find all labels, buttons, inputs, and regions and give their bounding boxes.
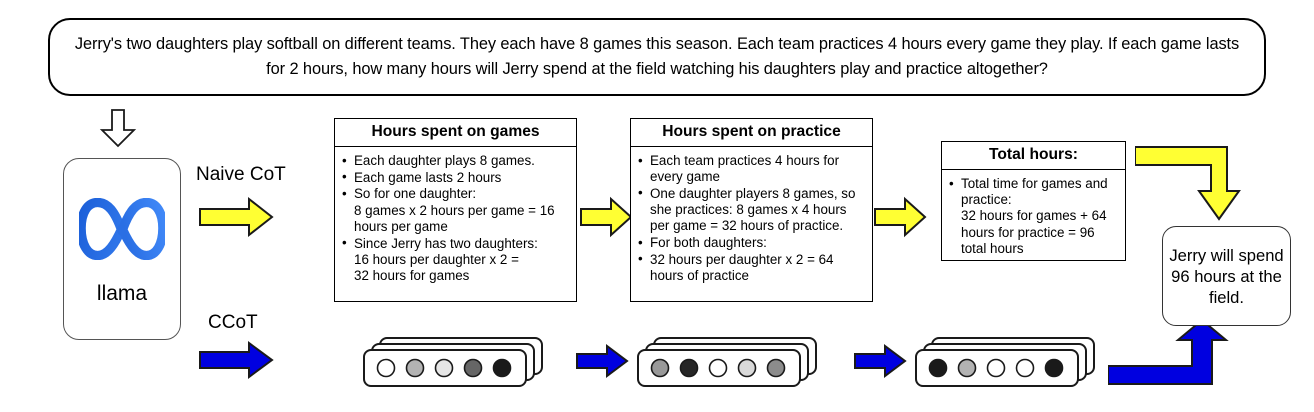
question-text: Jerry's two daughters play softball on d… [68, 32, 1246, 82]
naive-cot-label: Naive CoT [196, 164, 286, 186]
ccot-card-stack-1 [358, 334, 558, 401]
token-dot [407, 360, 424, 377]
cot-box-games: Hours spent on games Each daughter plays… [334, 118, 577, 302]
llama-label: llama [97, 282, 147, 306]
cot-box-games-body: Each daughter plays 8 games. Each game l… [335, 147, 576, 291]
cot-box-total: Total hours: Total time for games and pr… [941, 141, 1126, 261]
ccot-card-stack-3 [910, 334, 1110, 401]
cot-box-total-body: Total time for games and practice: 32 ho… [942, 170, 1125, 264]
ccot-arrow-icon-2 [574, 344, 630, 378]
meta-infinity-logo [79, 198, 165, 260]
token-dot [988, 360, 1005, 377]
list-item: Each team practices 4 hours for every ga… [637, 153, 865, 185]
token-card-stack-icon [358, 334, 558, 396]
naive-cot-elbow-arrow-icon [1135, 145, 1255, 223]
token-dot [465, 360, 482, 377]
token-dot [930, 360, 947, 377]
token-dot [652, 360, 669, 377]
naive-cot-arrow-icon-3 [872, 196, 928, 238]
token-dot [378, 360, 395, 377]
ccot-card-stack-2 [632, 334, 832, 401]
question-box: Jerry's two daughters play softball on d… [48, 18, 1266, 96]
ccot-arrow-icon-3 [852, 344, 908, 378]
cot-box-practice-body: Each team practices 4 hours for every ga… [631, 147, 872, 291]
answer-box: Jerry will spend 96 hours at the field. [1162, 226, 1291, 326]
list-item: Since Jerry has two daughters: 16 hours … [341, 236, 569, 285]
list-item: Each daughter plays 8 games. [341, 153, 569, 169]
list-item: Total time for games and practice: 32 ho… [948, 176, 1118, 257]
token-dot [681, 360, 698, 377]
cot-box-total-title: Total hours: [942, 142, 1125, 170]
token-card-stack-icon [632, 334, 832, 396]
token-card-stack-icon [910, 334, 1110, 396]
naive-cot-arrow-icon [197, 196, 275, 238]
list-item: For both daughters: [637, 235, 865, 251]
answer-text: Jerry will spend 96 hours at the field. [1169, 245, 1284, 308]
list-item: One daughter players 8 games, so she pra… [637, 186, 865, 235]
down-arrow-icon [96, 108, 140, 148]
token-dot [739, 360, 756, 377]
token-dot [1046, 360, 1063, 377]
token-dot [436, 360, 453, 377]
llama-model-box: llama [63, 158, 181, 340]
ccot-label: CCoT [208, 312, 258, 334]
token-dot [1017, 360, 1034, 377]
list-item: So for one daughter: 8 games x 2 hours p… [341, 186, 569, 235]
list-item: 32 hours per daughter x 2 = 64 hours of … [637, 252, 865, 284]
ccot-arrow-icon [197, 341, 275, 379]
ccot-elbow-arrow-icon [1108, 318, 1236, 388]
cot-box-practice-title: Hours spent on practice [631, 119, 872, 147]
cot-box-games-title: Hours spent on games [335, 119, 576, 147]
token-dot [710, 360, 727, 377]
list-item: Each game lasts 2 hours [341, 170, 569, 186]
cot-box-practice: Hours spent on practice Each team practi… [630, 118, 873, 302]
naive-cot-arrow-icon-2 [578, 196, 634, 238]
token-dot [959, 360, 976, 377]
token-dot [768, 360, 785, 377]
token-dot [494, 360, 511, 377]
